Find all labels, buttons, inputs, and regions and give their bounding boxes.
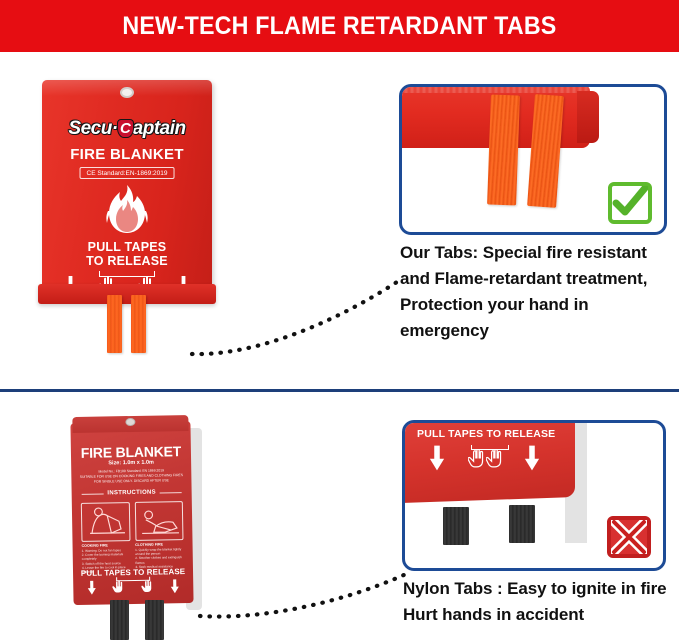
arrow-down-icon bbox=[429, 445, 445, 471]
brand-logo-suffix: aptain bbox=[133, 118, 186, 139]
pouch-side-lip bbox=[577, 91, 599, 143]
inset-orange-tabs bbox=[399, 84, 667, 235]
package-bottom-seam bbox=[38, 284, 216, 304]
shield-letter: C bbox=[117, 119, 134, 138]
orange-tab-right bbox=[131, 295, 146, 353]
check-mark-icon bbox=[612, 186, 648, 220]
clothing-fire-illustration bbox=[134, 501, 183, 541]
page-title: NEW-TECH FLAME RETARDANT TABS bbox=[122, 12, 556, 41]
arrow-down-icon bbox=[170, 579, 179, 593]
orange-tab-left bbox=[107, 295, 122, 353]
pull-line-1: PULL TAPES bbox=[88, 240, 167, 254]
arrow-down-icon bbox=[87, 581, 96, 595]
instructions-heading: INSTRUCTIONS bbox=[82, 489, 182, 497]
hand-pull-icon bbox=[112, 580, 125, 593]
nylon-tab-closeup-right bbox=[509, 505, 535, 543]
package-top-seal bbox=[72, 415, 188, 433]
hang-hole-grommet-icon bbox=[125, 418, 135, 426]
product-package-bottom: FIRE BLANKET Size: 1.0m x 1.0m Model No.… bbox=[70, 421, 193, 605]
cooking-fire-icon bbox=[82, 503, 129, 541]
connector-dots-top bbox=[186, 274, 406, 360]
pull-line-2: TO RELEASE bbox=[86, 254, 168, 268]
flame-icon bbox=[100, 184, 154, 236]
header-banner: NEW-TECH FLAME RETARDANT TABS bbox=[0, 0, 679, 52]
product-package-top: Secu·Captain FIRE BLANKET CE Standard:EN… bbox=[42, 80, 212, 290]
cross-mark-icon bbox=[611, 520, 647, 554]
status-badge-rejected bbox=[607, 516, 651, 558]
product-size-label: Size: 1.0m x 1.0m bbox=[71, 459, 191, 467]
connector-dots-bottom bbox=[194, 568, 412, 624]
instruction-illustrations bbox=[81, 501, 184, 542]
nylon-tab-right bbox=[145, 600, 164, 640]
caption-our-tabs: Our Tabs: Special fire resistant and Fla… bbox=[400, 240, 679, 344]
nylon-tab-left bbox=[110, 600, 129, 640]
bottom-comparison-panel: FIRE BLANKET Size: 1.0m x 1.0m Model No.… bbox=[0, 392, 679, 639]
product-name-top: FIRE BLANKET bbox=[42, 146, 212, 163]
caption-nylon-tabs: Nylon Tabs : Easy to ignite in fire Hurt… bbox=[403, 576, 679, 628]
pull-icon-row-bottom bbox=[87, 579, 179, 595]
nylon-tab-closeup-left bbox=[443, 507, 469, 545]
hang-hole-grommet-icon bbox=[120, 87, 134, 98]
inset-pull-label: PULL TAPES TO RELEASE bbox=[417, 428, 555, 440]
brand-logo: Secu·Captain bbox=[42, 118, 212, 140]
shield-badge-icon: C bbox=[117, 119, 134, 138]
inset-nylon-tabs: PULL TAPES TO RELEASE bbox=[402, 420, 666, 571]
hand-pull-icon bbox=[141, 580, 154, 593]
status-badge-approved bbox=[608, 182, 652, 224]
pull-tapes-instruction-top: PULL TAPES TO RELEASE bbox=[42, 240, 212, 268]
instructions-heading-text: INSTRUCTIONS bbox=[107, 490, 156, 497]
arrow-down-icon bbox=[524, 445, 540, 471]
top-comparison-panel: Secu·Captain FIRE BLANKET CE Standard:EN… bbox=[0, 52, 679, 389]
orange-tab-closeup-left bbox=[487, 95, 520, 206]
clothing-fire-icon bbox=[135, 502, 182, 540]
hand-pull-icon bbox=[486, 449, 505, 468]
ce-standard-label: CE Standard:EN-1869:2019 bbox=[80, 167, 175, 179]
brand-logo-prefix: Secu· bbox=[68, 118, 117, 139]
hand-pull-icon bbox=[468, 449, 487, 468]
cooking-fire-illustration bbox=[81, 502, 130, 542]
spec-line-3: FOR SINGLE USE ONLY. DISCARD AFTER USE bbox=[79, 478, 183, 485]
product-spec-block: Model No.: FB100 Standard: EN 1869:2019 … bbox=[79, 468, 183, 485]
